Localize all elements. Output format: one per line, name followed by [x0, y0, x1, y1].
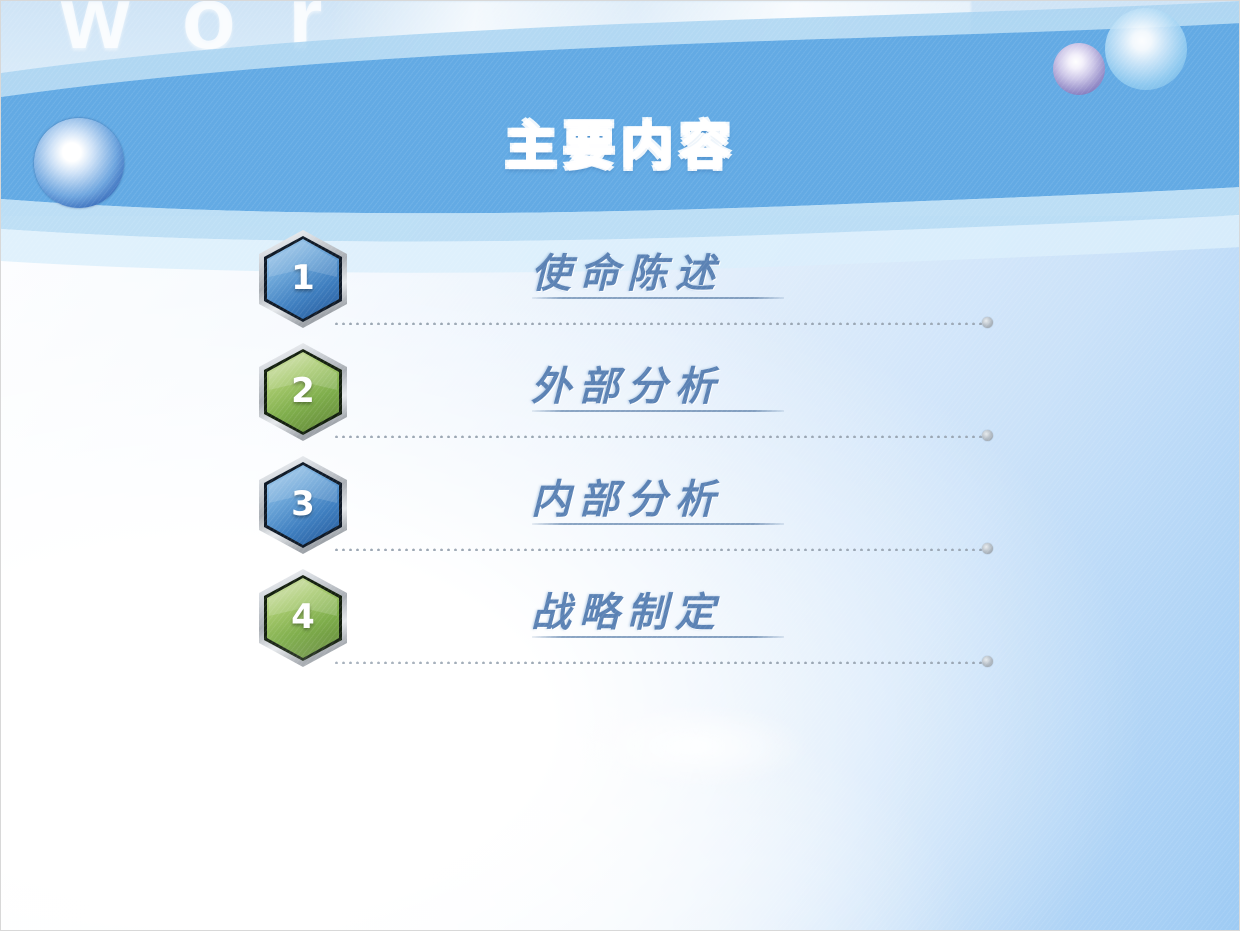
background-texture — [1, 1, 1239, 930]
slide-canvas: w o r 主要内容 — [0, 0, 1240, 931]
